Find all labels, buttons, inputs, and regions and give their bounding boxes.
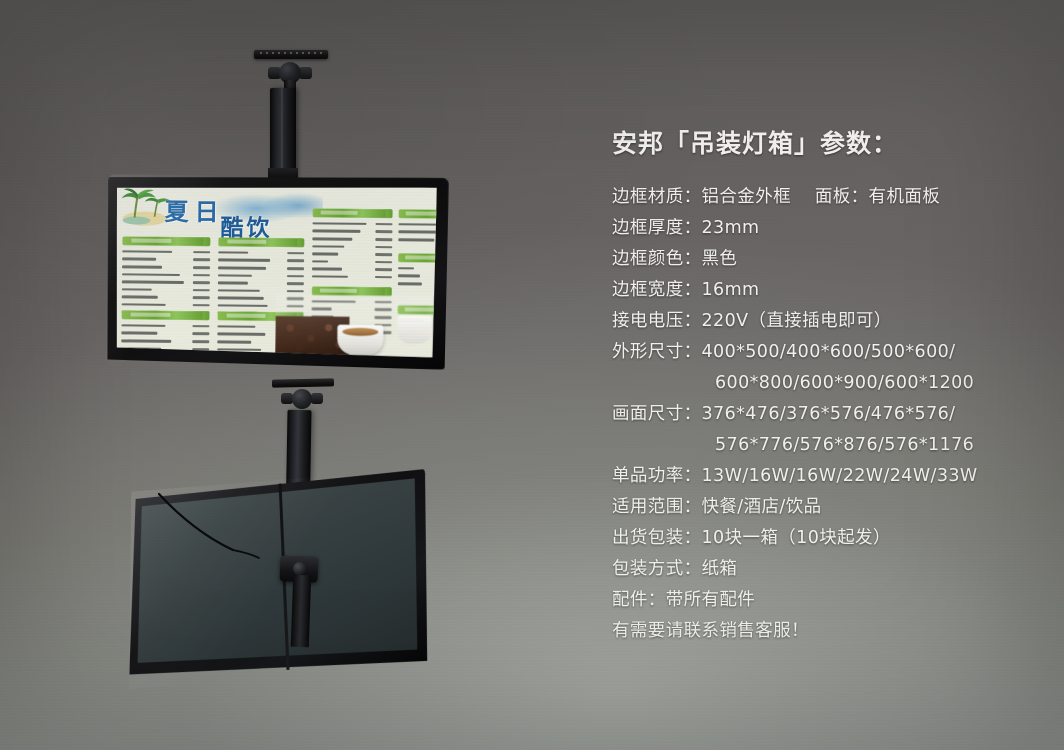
product-photo-canvas: 夏 日 酷 饮 [0, 0, 1064, 750]
menu-row [398, 229, 436, 236]
spec-line: 出货包装：10块一箱（10块起发） [612, 523, 1042, 554]
menu-row [218, 272, 304, 279]
menu-row [312, 220, 392, 227]
menu-row [122, 294, 210, 301]
spec-line: 画面尺寸：376*476/376*576/476*576/ [612, 399, 1042, 430]
section-header [218, 237, 304, 247]
section-header [121, 310, 209, 320]
menu-row [121, 338, 209, 345]
coffee-photo [275, 294, 436, 358]
menu-section-right-2 [398, 253, 437, 289]
menu-row [398, 280, 437, 287]
menu-row [398, 265, 437, 272]
spec-line: 有需要请联系销售客服！ [612, 616, 1042, 647]
upper-swivel-ball-joint [268, 58, 312, 92]
section-header [399, 209, 437, 219]
menu-row [122, 286, 210, 293]
spec-line: 边框宽度：16mm [612, 275, 1042, 306]
spec-line: 576*776/576*876/576*1176 [612, 430, 1042, 461]
menu-row [122, 256, 210, 263]
menu-row [218, 249, 304, 256]
section-header [122, 236, 210, 246]
menu-title-char-1: 夏 [164, 192, 188, 227]
section-header [313, 208, 393, 218]
section-header [398, 253, 437, 263]
menu-row [312, 251, 392, 258]
menu-row [312, 266, 392, 273]
spec-line: 600*800/600*900/600*1200 [612, 368, 1042, 399]
spec-line: 适用范围：快餐/酒店/饮品 [612, 492, 1042, 523]
lit-lightbox: 夏 日 酷 饮 [106, 174, 449, 370]
menu-row [218, 265, 304, 272]
joint-ball [292, 389, 312, 409]
menu-row [122, 271, 210, 278]
spec-line: 包装方式：纸箱 [612, 554, 1042, 585]
menu-row [122, 279, 210, 286]
menu-title-char-2: 日 [194, 192, 218, 227]
menu-row [218, 257, 304, 264]
menu-row [122, 248, 210, 255]
lightbox-menu-panel: 夏 日 酷 饮 [115, 184, 437, 357]
spec-line-list: 边框材质：铝合金外框 面板：有机面板边框厚度：23mm边框颜色：黑色边框宽度：1… [612, 182, 1042, 647]
menu-row [312, 273, 392, 280]
menu-row [312, 236, 392, 243]
spec-line: 配件：带所有配件 [612, 585, 1042, 616]
menu-row [312, 258, 392, 265]
menu-row [122, 301, 210, 308]
menu-row [122, 264, 210, 271]
spec-line: 单品功率：13W/16W/16W/22W/24W/33W [612, 461, 1042, 492]
menu-row [121, 322, 209, 329]
photo-soft-overlay [275, 294, 436, 358]
menu-row [398, 221, 436, 228]
menu-row [218, 280, 304, 287]
spec-line: 接电电压：220V（直接插电即可） [612, 306, 1042, 337]
spec-line: 外形尺寸：400*500/400*600/500*600/ [612, 337, 1042, 368]
lower-stem [291, 575, 312, 648]
menu-section-mid-1 [312, 208, 393, 281]
menu-row [121, 330, 209, 337]
menu-row [312, 228, 392, 235]
menu-section-left-1 [122, 236, 211, 317]
menu-section-right-1 [398, 209, 437, 245]
joint-wing-right [311, 393, 323, 404]
menu-row [312, 243, 392, 250]
page-title: 安邦「吊装灯箱」参数： [612, 124, 1042, 160]
spec-line: 边框厚度：23mm [612, 213, 1042, 244]
spec-line: 边框材质：铝合金外框 面板：有机面板 [612, 182, 1042, 213]
menu-title: 夏 日 酷 饮 [160, 190, 300, 235]
spec-line: 边框颜色：黑色 [612, 244, 1042, 275]
menu-row [398, 236, 437, 243]
spec-text-block: 安邦「吊装灯箱」参数： 边框材质：铝合金外框 面板：有机面板边框厚度：23mm边… [612, 124, 1042, 647]
menu-row [398, 273, 437, 280]
